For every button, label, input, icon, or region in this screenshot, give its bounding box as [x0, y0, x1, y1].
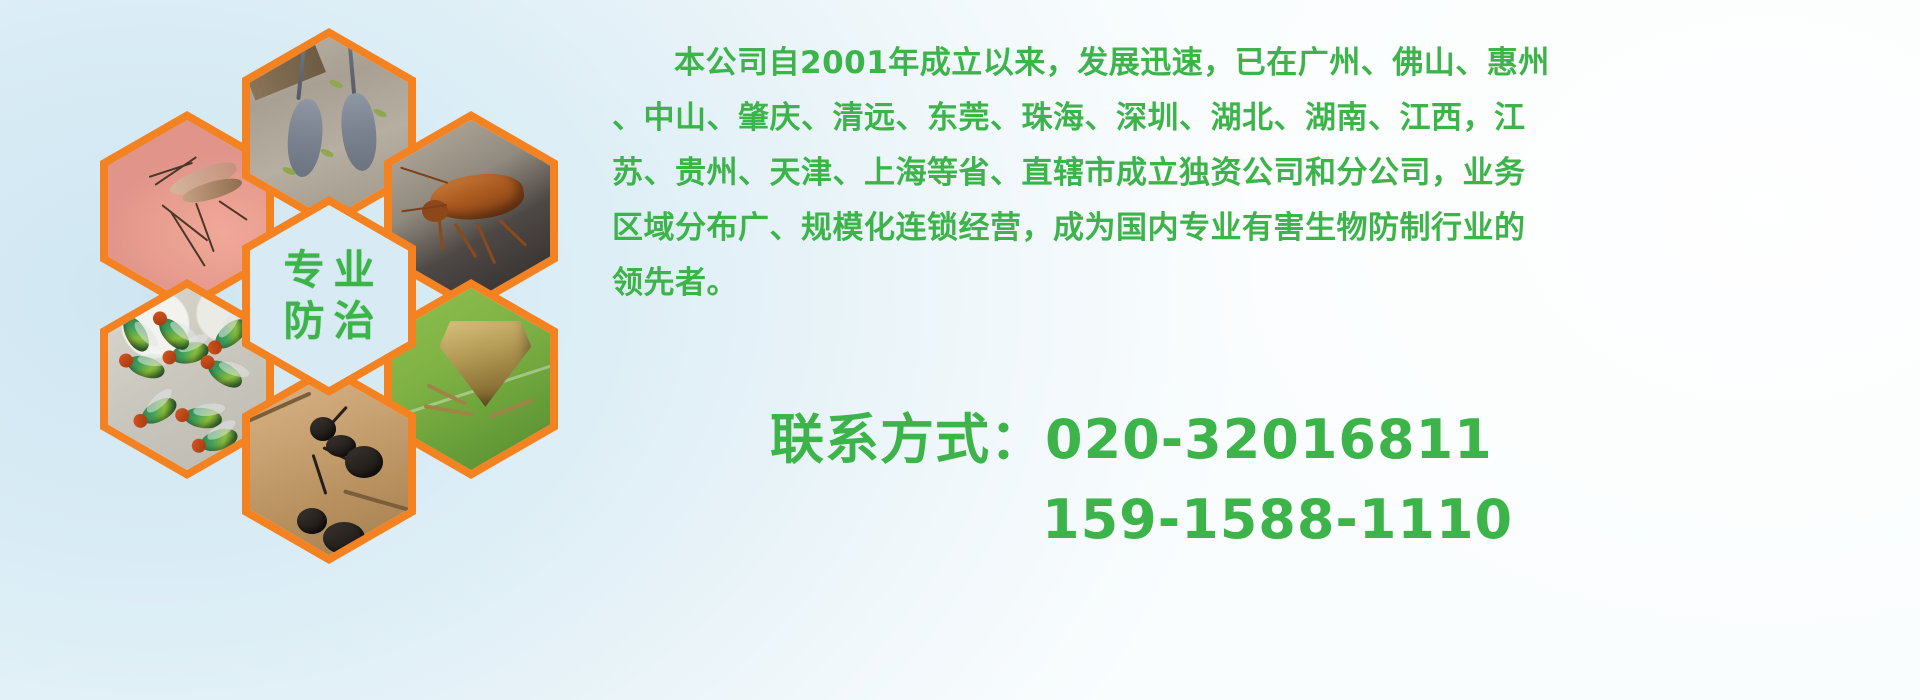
leaf-debris [328, 78, 343, 89]
ant-abdomen [323, 522, 365, 554]
cockroach-antenna [400, 166, 448, 183]
stink-bug-leg [423, 404, 473, 417]
leaf-debris [373, 107, 388, 118]
fly-body [137, 393, 180, 428]
intro-line-4: 区域分布广、规模化连锁经营，成为国内专业有害生物防制行业的 [612, 201, 1880, 256]
twig [343, 490, 408, 516]
ant-abdomen [345, 446, 383, 478]
contact-phone-mobile[interactable]: 159-1588-1110 [770, 480, 1513, 560]
intro-paragraph: 本公司自2001年成立以来，发展迅速，已在广州、佛山、惠州 、中山、肇庆、清远、… [612, 36, 1880, 311]
promo-banner: 专业 防治 [0, 0, 1920, 700]
fly-body [198, 425, 240, 455]
wood-plank [250, 37, 326, 100]
cockroach-leg [498, 219, 527, 248]
intro-line-1-text: 本公司自2001年成立以来，发展迅速，已在广州、佛山、惠州 [674, 45, 1550, 81]
mosquito-leg [196, 203, 216, 253]
slogan-line-1: 专业 [275, 250, 384, 291]
ant-photo-art [250, 373, 408, 555]
rat-body [338, 92, 380, 173]
intro-line-3: 苏、贵州、天津、上海等省、直辖市成立独资公司和分公司，业务 [612, 146, 1880, 201]
cockroach-leg [454, 223, 478, 259]
fly-body [119, 313, 154, 356]
rat-body [285, 98, 326, 179]
contact-phone-landline[interactable]: 联系方式：020-32016811 [770, 400, 1513, 480]
honeycomb-gallery: 专业 防治 [78, 0, 598, 585]
hex-photo-ant [250, 373, 408, 555]
fly-body [125, 352, 167, 383]
stink-bug-leg [489, 398, 533, 419]
mosquito-proboscis [218, 200, 247, 221]
slogan-hex-inner: 专业 防治 [250, 205, 408, 387]
intro-line-1: 本公司自2001年成立以来，发展迅速，已在广州、佛山、惠州 [612, 36, 1880, 91]
intro-line-2: 、中山、肇庆、清远、东莞、珠海、深圳、湖北、湖南、江西，江 [612, 91, 1880, 146]
leaf-debris [319, 147, 334, 158]
cockroach-leg [476, 223, 497, 264]
rat-tail [347, 44, 356, 96]
slogan-line-2: 防治 [275, 301, 384, 342]
fly-body [204, 356, 247, 394]
intro-line-5: 领先者。 [612, 256, 1880, 311]
contact-block: 联系方式：020-32016811 159-1588-1110 [770, 400, 1513, 560]
ant-leg [312, 454, 328, 495]
ant-head [297, 508, 327, 534]
stink-bug-body [439, 321, 531, 407]
